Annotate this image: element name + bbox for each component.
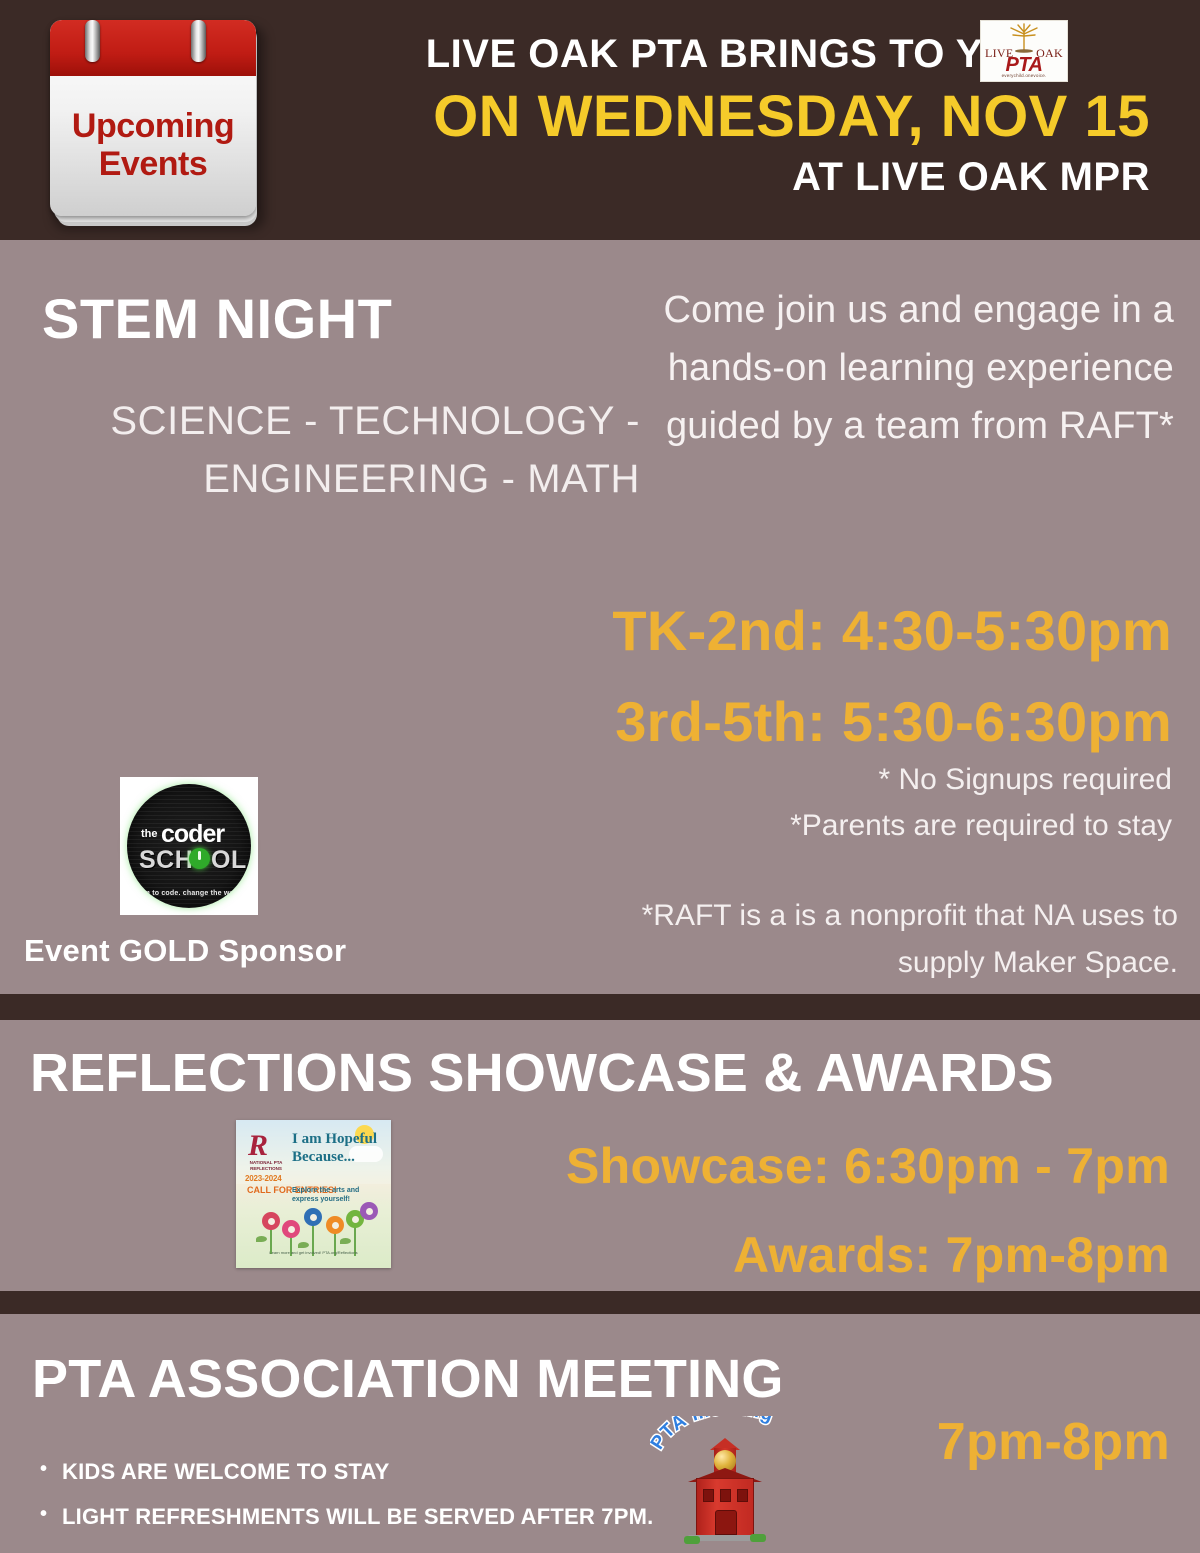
reflections-r-mark: R: [248, 1131, 280, 1161]
header-date: ON WEDNESDAY, NOV 15: [300, 85, 1150, 149]
reflections-headline: I am Hopeful Because...: [292, 1130, 388, 1167]
flower-icon: [282, 1220, 300, 1238]
stem-night-schedule: TK-2nd: 4:30-5:30pm 3rd-5th: 5:30-6:30pm: [472, 586, 1172, 767]
school-window: [703, 1489, 714, 1502]
pta-note-refreshments: LIGHT REFRESHMENTS WILL BE SERVED AFTER …: [34, 1504, 734, 1530]
calendar-body: Upcoming Events: [50, 20, 256, 216]
coder-school-logo: the coder SCH OL learn to code. change t…: [120, 777, 258, 915]
power-button-icon: [189, 848, 210, 869]
schoolhouse-clipart: PTA meeting: [650, 1416, 800, 1553]
stem-signup-notes: * No Signups required *Parents are requi…: [532, 757, 1172, 848]
live-oak-pta-logo: LIVE OAK PTA everychild.onevoice.: [980, 20, 1068, 82]
reflections-awards-time: Awards: 7pm-8pm: [410, 1211, 1170, 1300]
coder-school-tagline: learn to code. change the world.: [127, 890, 251, 897]
stem-night-description: Come join us and engage in a hands-on le…: [614, 282, 1174, 455]
stem-time-3rd-5th: 3rd-5th: 5:30-6:30pm: [472, 677, 1172, 768]
coder-school-sch: SCH: [139, 846, 193, 875]
header-location: AT LIVE OAK MPR: [300, 155, 1150, 200]
calendar-header-strip: [50, 20, 256, 76]
gold-sponsor-label: Event GOLD Sponsor: [24, 933, 346, 969]
flyer-page: Upcoming Events LIVE OAK PTA BRINGS TO Y…: [0, 0, 1200, 1553]
note-parents-stay: *Parents are required to stay: [532, 803, 1172, 849]
calendar-ring-right: [191, 20, 206, 62]
calendar-label-line2: Events: [99, 147, 208, 183]
pta-note-kids-welcome: KIDS ARE WELCOME TO STAY: [34, 1459, 734, 1485]
calendar-ring-left: [85, 20, 100, 62]
note-no-signups: * No Signups required: [532, 757, 1172, 803]
section-divider-1: [0, 994, 1200, 1020]
calendar-icon: Upcoming Events: [45, 16, 273, 238]
grass-icon: [684, 1536, 700, 1544]
flower-icon: [326, 1216, 344, 1234]
leaf-icon: [256, 1236, 267, 1242]
section-divider-2: [0, 1291, 1200, 1314]
stem-night-title: STEM NIGHT: [42, 286, 392, 351]
reflections-year: 2023-2024: [245, 1174, 281, 1183]
raft-footnote: *RAFT is a is a nonprofit that NA uses t…: [578, 893, 1178, 986]
pta-logo-tagline: everychild.onevoice.: [981, 73, 1067, 78]
reflections-title: REFLECTIONS SHOWCASE & AWARDS: [30, 1042, 1054, 1104]
stem-time-tk-2nd: TK-2nd: 4:30-5:30pm: [472, 586, 1172, 677]
coder-school-ol: OL: [211, 846, 247, 875]
reflections-logo-text: NATIONAL PTA REFLECTIONS: [244, 1160, 288, 1171]
pta-meeting-time: 7pm-8pm: [937, 1412, 1170, 1472]
pta-meeting-notes: KIDS ARE WELCOME TO STAY LIGHT REFRESHME…: [34, 1459, 734, 1550]
reflections-poster: R NATIONAL PTA REFLECTIONS 2023-2024 CAL…: [236, 1120, 391, 1268]
school-building: [696, 1478, 754, 1536]
flower-icon: [262, 1212, 280, 1230]
reflections-poster-footer: Learn more and get involved! PTA.org/Ref…: [236, 1250, 391, 1255]
coder-school-coder: coder: [161, 820, 224, 849]
grass-icon: [750, 1534, 766, 1542]
leaf-icon: [340, 1238, 351, 1244]
flower-icon: [360, 1202, 378, 1220]
school-window: [720, 1489, 731, 1502]
calendar-label-line1: Upcoming: [72, 109, 234, 145]
calendar-label: Upcoming Events: [50, 76, 256, 216]
pta-meeting-title: PTA ASSOCIATION MEETING: [32, 1348, 784, 1410]
flower-icon: [304, 1208, 322, 1226]
coder-school-the: the: [141, 828, 158, 840]
reflections-schedule: Showcase: 6:30pm - 7pm Awards: 7pm-8pm: [410, 1122, 1170, 1300]
leaf-icon: [298, 1242, 309, 1248]
school-door: [715, 1510, 737, 1535]
coder-school-circle: the coder SCH OL learn to code. change t…: [127, 784, 251, 908]
school-window: [737, 1489, 748, 1502]
stem-night-subtitle: SCIENCE - TECHNOLOGY - ENGINEERING - MAT…: [40, 392, 640, 508]
reflections-showcase-time: Showcase: 6:30pm - 7pm: [410, 1122, 1170, 1211]
